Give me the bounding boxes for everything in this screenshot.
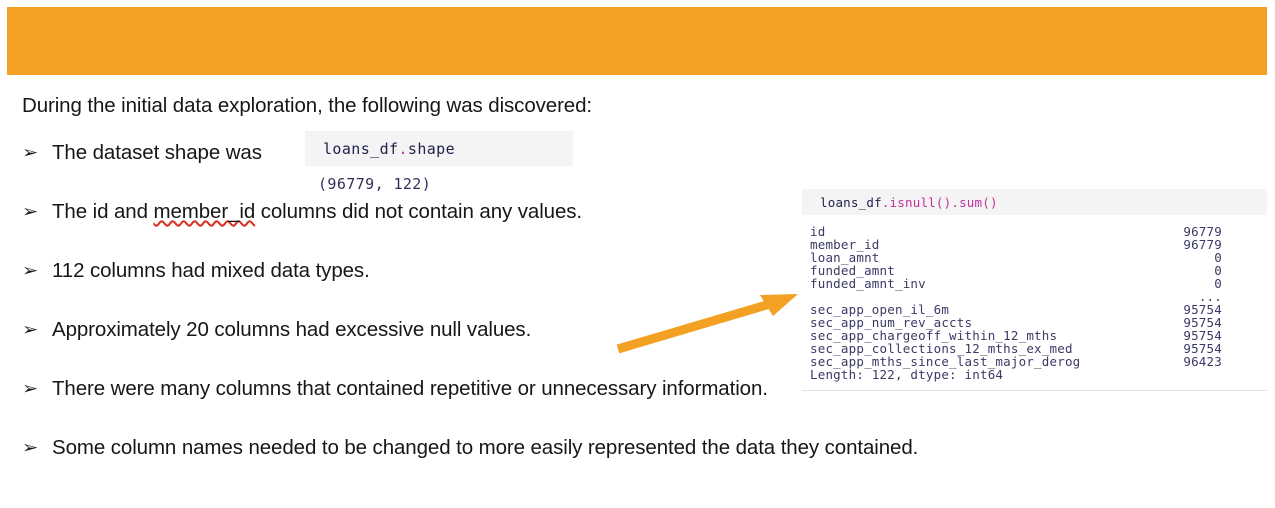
bullet-arrow-icon: ➢	[22, 140, 57, 166]
bullet-id-columns-label: The id and member_id columns did not con…	[52, 199, 582, 225]
bullet-null-values-label: Approximately 20 columns had excessive n…	[52, 317, 531, 343]
misspelled-word: member_id	[153, 200, 255, 223]
bullet-arrow-icon: ➢	[22, 435, 57, 461]
shape-code-snippet: loans_df.shape (96779, 122)	[305, 131, 573, 193]
bullet-dataset-shape-label: The dataset shape was	[52, 140, 262, 166]
isnull-code-text: loans_df.isnull().sum()	[820, 195, 998, 210]
bullet-arrow-icon: ➢	[22, 199, 57, 225]
isnull-code-identifier: loans_df	[820, 195, 882, 210]
panel-divider	[802, 390, 1267, 391]
isnull-length-line: Length: 122, dtype: int64	[810, 368, 1267, 381]
text-before-misspelling: The id and	[52, 200, 153, 223]
text-after-misspelling: columns did not contain any values.	[255, 200, 582, 223]
isnull-row-value: 0	[1214, 264, 1267, 277]
bullet-arrow-icon: ➢	[22, 317, 57, 343]
bullet-id-columns: ➢ The id and member_id columns did not c…	[22, 199, 922, 258]
bullet-mixed-types-label: 112 columns had mixed data types.	[52, 258, 370, 284]
isnull-row-value: 96423	[1183, 355, 1267, 368]
shape-output-value: (96779, 122)	[305, 175, 573, 193]
shape-code-dot: .	[398, 140, 407, 158]
bullet-repetitive: ➢ There were many columns that contained…	[22, 376, 922, 435]
bullet-arrow-icon: ➢	[22, 376, 57, 402]
isnull-code-input-cell: loans_df.isnull().sum()	[802, 189, 1267, 215]
isnull-rows: id 96779 member_id 96779 loan_amnt 0 fun…	[802, 225, 1267, 381]
bullet-repetitive-label: There were many columns that contained r…	[52, 376, 768, 402]
bullet-rename-label: Some column names needed to be changed t…	[52, 435, 918, 461]
header-accent-bar	[7, 7, 1267, 75]
shape-code-identifier: loans_df	[323, 140, 398, 158]
isnull-row-value: 96779	[1183, 238, 1267, 251]
bullet-arrow-icon: ➢	[22, 258, 57, 284]
bullet-list: ➢ The dataset shape was ➢ The id and mem…	[22, 140, 922, 494]
bullet-rename: ➢ Some column names needed to be changed…	[22, 435, 922, 494]
isnull-output-panel: loans_df.isnull().sum() id 96779 member_…	[802, 189, 1267, 391]
isnull-row-key: funded_amnt_inv	[810, 277, 926, 290]
shape-code-attribute: shape	[408, 140, 455, 158]
bullet-null-values: ➢ Approximately 20 columns had excessive…	[22, 317, 922, 376]
shape-code-input-cell: loans_df.shape	[305, 131, 573, 166]
shape-code-text: loans_df.shape	[323, 140, 455, 158]
isnull-code-call: .isnull().sum()	[882, 195, 998, 210]
isnull-row-value: 0	[1214, 277, 1267, 290]
isnull-row-value: 0	[1214, 251, 1267, 264]
intro-text: During the initial data exploration, the…	[22, 94, 592, 118]
bullet-mixed-types: ➢ 112 columns had mixed data types.	[22, 258, 922, 317]
